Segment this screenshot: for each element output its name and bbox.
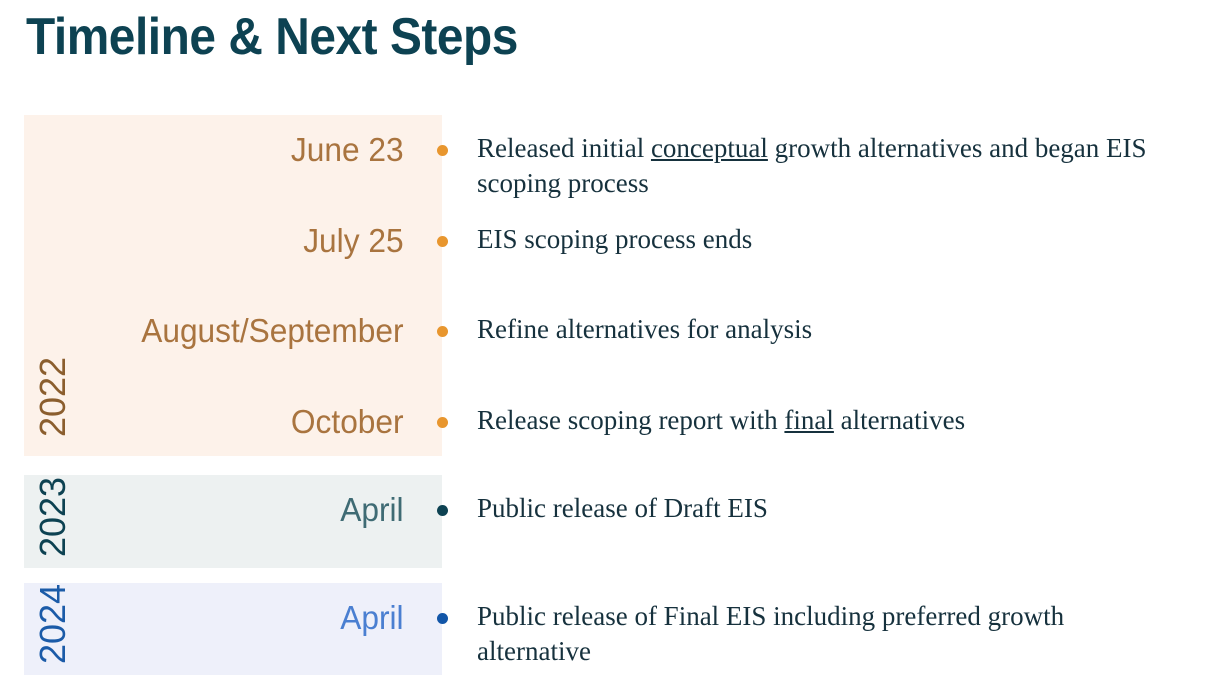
description-text: Public release of Draft EIS: [477, 493, 768, 523]
timeline-row-date: June 23: [41, 131, 442, 169]
timeline-row-date: April: [41, 491, 442, 529]
timeline-year-group-2023: 2023AprilPublic release of Draft EIS: [0, 475, 1231, 568]
description-text: EIS scoping process ends: [477, 224, 752, 254]
timeline-row-date: July 25: [41, 222, 442, 260]
timeline-row-description: Public release of Final EIS including pr…: [477, 599, 1177, 669]
timeline-row-description: Refine alternatives for analysis: [477, 312, 1177, 347]
timeline-row-description: Released initial conceptual growth alter…: [477, 131, 1177, 201]
timeline-row-date: April: [41, 599, 442, 637]
timeline-row: AprilPublic release of Final EIS includi…: [0, 599, 1231, 669]
timeline: 2022June 23Released initial conceptual g…: [0, 115, 1231, 675]
description-text: Refine alternatives for analysis: [477, 314, 812, 344]
timeline-row: OctoberRelease scoping report with final…: [0, 403, 1231, 441]
description-text: Release scoping report with: [477, 405, 784, 435]
timeline-row-description: EIS scoping process ends: [477, 222, 1177, 257]
timeline-row-description: Release scoping report with final altern…: [477, 403, 1177, 438]
timeline-row: July 25EIS scoping process ends: [0, 222, 1231, 260]
timeline-year-group-2024: 2024AprilPublic release of Final EIS inc…: [0, 583, 1231, 675]
timeline-row: June 23Released initial conceptual growt…: [0, 131, 1231, 201]
timeline-row-date: August/September: [41, 312, 442, 350]
timeline-year-group-2022: 2022June 23Released initial conceptual g…: [0, 115, 1231, 456]
description-text: Public release of Final EIS including pr…: [477, 601, 1064, 666]
page-title: Timeline & Next Steps: [26, 4, 518, 72]
timeline-row: August/SeptemberRefine alternatives for …: [0, 312, 1231, 350]
emphasis-underlined-text: final: [784, 405, 833, 435]
timeline-row: AprilPublic release of Draft EIS: [0, 491, 1231, 529]
description-text: alternatives: [834, 405, 965, 435]
timeline-row-date: October: [41, 403, 442, 441]
emphasis-underlined-text: conceptual: [651, 133, 768, 163]
description-text: Released initial: [477, 133, 651, 163]
timeline-row-description: Public release of Draft EIS: [477, 491, 1177, 526]
